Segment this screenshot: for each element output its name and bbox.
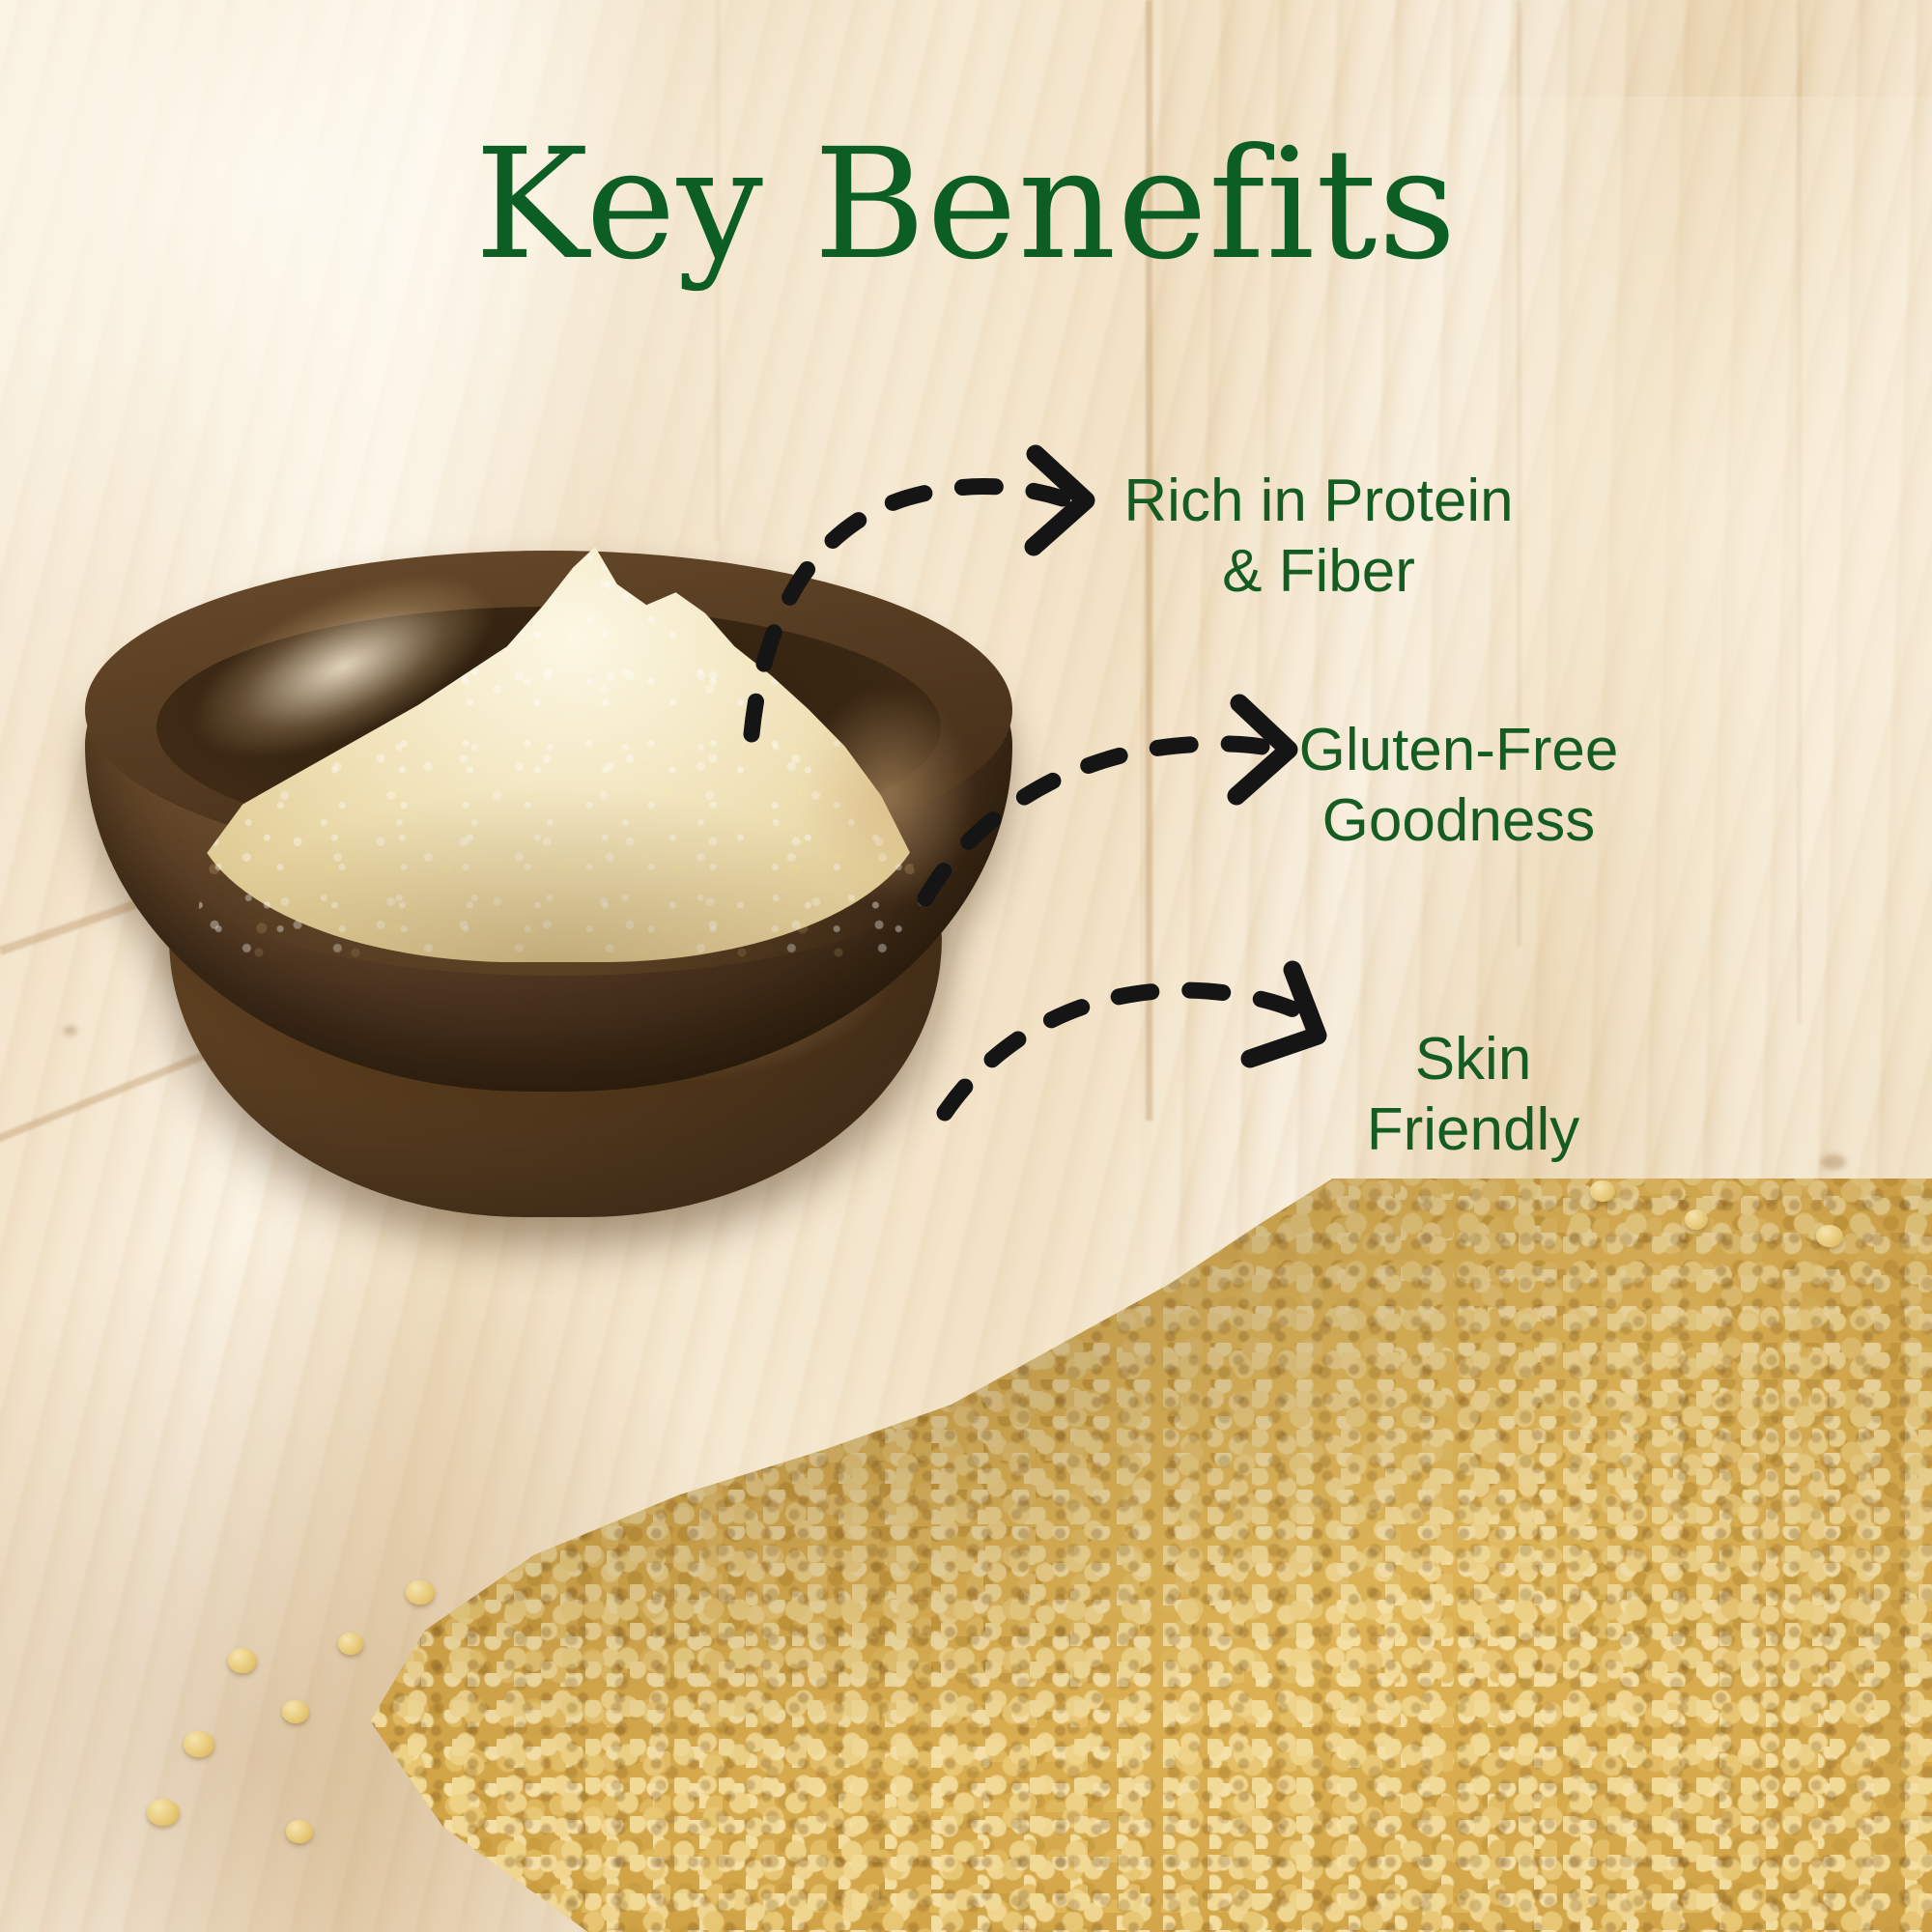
callout-skin-friendly: Skin Friendly <box>1314 1024 1633 1165</box>
stray-lentil <box>406 1580 435 1605</box>
stray-lentil <box>228 1648 257 1673</box>
stray-lentil <box>1685 1209 1708 1230</box>
wooden-bowl <box>68 541 1053 1236</box>
stray-lentil <box>1590 1180 1615 1202</box>
callout-rich-in-protein-and-fiber: Rich in Protein & Fiber <box>1092 466 1546 607</box>
stray-lentil <box>286 1820 313 1843</box>
key-benefits-poster: Key Benefits Rich in Protein & Fiber Glu… <box>0 0 1932 1932</box>
stray-lentil <box>184 1731 214 1757</box>
stray-lentil <box>338 1633 363 1655</box>
bowl-rim-highlight-right <box>802 686 976 908</box>
callout-gluten-free-goodness: Gluten-Free Goodness <box>1256 715 1662 856</box>
stray-lentil <box>1816 1225 1843 1247</box>
page-title: Key Benefits <box>0 126 1932 286</box>
stray-lentil <box>282 1700 309 1723</box>
stray-lentil <box>147 1799 180 1826</box>
